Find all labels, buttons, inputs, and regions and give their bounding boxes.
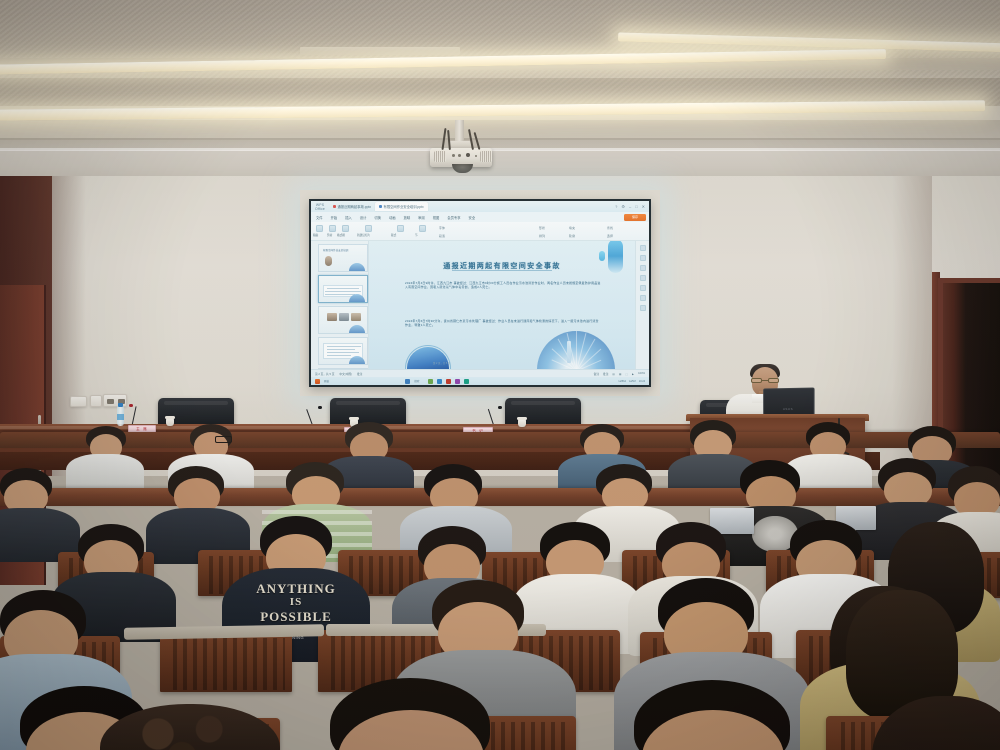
thumb-photo-1	[325, 256, 332, 266]
ppt-file-icon	[333, 205, 336, 208]
tshirt-line-3: POSSIBLE	[222, 610, 370, 624]
power-outlet-panel[interactable]	[103, 394, 127, 407]
tray-network-icon[interactable]: \u25b4	[618, 380, 626, 383]
ribbon-tab-review[interactable]: 审阅	[417, 215, 426, 220]
new-slide-label: 新建幻灯片	[357, 233, 370, 237]
status-language[interactable]: 中文(中国)	[339, 372, 352, 376]
conference-room-photo: WPS Office 通报近期两起事故.pptx 有限空间作业安全培训.pptx…	[0, 0, 1000, 750]
slideshow-play-icon[interactable]: ▶	[632, 372, 634, 376]
slide-page-note: 第 2 页，共 5 页	[433, 361, 450, 365]
document-tab-2[interactable]: 有限空间作业安全培训.pptx	[375, 202, 428, 211]
microphone-3-head	[498, 406, 502, 409]
slide-thumbnail-1-title: 有限空间作业安全培训	[323, 248, 348, 252]
ribbon-tab-member[interactable]: 会员专享	[446, 215, 461, 220]
start-icon[interactable]	[315, 379, 320, 384]
paragraph-toolbar-row[interactable]: 段落	[439, 234, 445, 238]
light-switch-panel-2[interactable]	[90, 395, 102, 407]
status-comment[interactable]: 批注	[357, 372, 362, 376]
right-tool-rail[interactable]	[635, 241, 649, 369]
soffit-edge-highlight	[0, 148, 1000, 151]
tshirt-line-1: ANYTHING	[222, 582, 370, 596]
ceiling-coffer-3	[0, 120, 1000, 140]
tshirt-line-2: IS	[222, 597, 370, 609]
save-button[interactable]: 保存	[624, 214, 646, 221]
thumb-photo-3c	[351, 313, 361, 321]
shape-library-icon[interactable]	[640, 285, 646, 291]
slide-thumbnail-2[interactable]: 2	[318, 275, 368, 303]
outline-toolbar-row[interactable]: 轮廓	[569, 234, 575, 238]
ribbon-tab-security[interactable]: 安全	[468, 215, 477, 220]
ribbon-tab-insert[interactable]: 插入	[344, 215, 353, 220]
audience: ANYTHING IS POSSIBLE LINING	[0, 430, 1000, 750]
audience-chair-r4-2[interactable]	[160, 632, 292, 692]
gear-icon[interactable]: ⚙	[621, 204, 625, 209]
thumb-dome-3	[349, 325, 365, 333]
taskbar-clock: 10:24	[639, 380, 645, 383]
arrange-toolbar-row[interactable]: 排列	[539, 234, 545, 238]
microphone-2-head	[318, 406, 322, 409]
layout-icon[interactable]	[397, 225, 404, 232]
light-fixture-cap	[300, 47, 460, 55]
document-tab-1-label: 通报近期两起事故.pptx	[338, 204, 372, 209]
presenter-glasses	[751, 378, 779, 383]
wps-logo: WPS Office	[311, 203, 329, 211]
status-comments-button[interactable]: 批注	[603, 372, 608, 376]
ppt-file-icon-2	[379, 205, 382, 208]
image-library-icon[interactable]	[640, 255, 646, 261]
minimize-icon[interactable]: ‒	[629, 204, 631, 209]
ribbon-tab-animation[interactable]: 动画	[388, 215, 397, 220]
chart-icon[interactable]	[640, 265, 646, 271]
status-notes-button[interactable]: 备注	[594, 372, 599, 376]
new-slide-icon[interactable]	[365, 225, 372, 232]
wechat-icon[interactable]	[428, 379, 433, 384]
view-sorter-icon[interactable]: ▦	[619, 372, 622, 376]
shape-toolbar-row[interactable]: 形状	[539, 226, 545, 230]
window-controls: ? ⚙ ‒ □ ✕	[615, 204, 649, 209]
search-label[interactable]: 搜索	[414, 379, 419, 383]
design-idea-icon[interactable]	[640, 245, 646, 251]
light-switch-panel[interactable]	[70, 396, 87, 407]
projection-screen: WPS Office 通报近期两起事故.pptx 有限空间作业安全培训.pptx…	[311, 201, 649, 385]
slide-canvas[interactable]: 通报近期两起有限空间安全事故 2024年7月4日9时许，江西九江市 事故经过：江…	[369, 241, 635, 369]
thumb-photo-3b	[339, 313, 349, 321]
layout-label: 版式	[391, 233, 396, 237]
thumb-dome-1	[349, 263, 365, 271]
status-page-indicator: 第 2 页，共 5 页	[315, 372, 334, 376]
maximize-icon[interactable]: □	[635, 204, 637, 209]
tray-volume-icon[interactable]: \u25cf	[629, 380, 636, 383]
ribbon-tab-view[interactable]: 视图	[432, 215, 441, 220]
document-tab-1[interactable]: 通报近期两起事故.pptx	[329, 202, 375, 211]
water-bottle	[117, 406, 124, 426]
find-toolbar-row[interactable]: 查找	[607, 226, 613, 230]
cut-icon[interactable]	[329, 225, 336, 232]
microphone-1-head	[129, 404, 133, 407]
ribbon-tab-strip: 文件 开始 插入 设计 切换 动画 放映 审阅 视图 会员专享 安全	[311, 212, 649, 222]
slide-title-underline	[452, 270, 552, 271]
ribbon-tab-slideshow[interactable]: 放映	[403, 215, 412, 220]
slide-decor-tower	[567, 341, 571, 363]
help-icon[interactable]: ?	[615, 204, 617, 209]
text-box-icon[interactable]	[640, 275, 646, 281]
ribbon-tab-file[interactable]: 文件	[315, 215, 324, 220]
slide-thumbnail-4[interactable]: 4	[318, 337, 368, 365]
ribbon-tab-design[interactable]: 设计	[359, 215, 368, 220]
teacup-3	[518, 419, 526, 427]
view-reading-icon[interactable]: ⬚	[626, 372, 629, 376]
ribbon-tab-transition[interactable]: 切换	[373, 215, 382, 220]
start-label[interactable]: 开始	[324, 379, 329, 383]
more-tools-icon[interactable]	[640, 305, 646, 311]
template-icon[interactable]	[640, 295, 646, 301]
font-toolbar-row[interactable]: 字体	[439, 226, 445, 230]
mail-icon[interactable]	[455, 379, 460, 384]
slide-thumbnail-1[interactable]: 1 有限空间作业安全培训	[318, 244, 368, 272]
paste-label: 粘贴	[313, 233, 318, 237]
cut-label: 剪切	[327, 233, 332, 237]
audience-desk-row-1	[0, 432, 1000, 448]
format-painter-icon[interactable]	[342, 225, 349, 232]
paste-icon[interactable]	[316, 225, 323, 232]
pdf-icon[interactable]	[446, 379, 451, 384]
slide-thumbnail-3[interactable]: 3	[318, 306, 368, 334]
close-icon[interactable]: ✕	[642, 204, 645, 209]
ribbon-tab-home[interactable]: 开始	[330, 215, 339, 220]
section-label: 节	[415, 233, 418, 237]
select-toolbar-row[interactable]: 选择	[607, 234, 613, 238]
ribbon: 粘贴 剪切 格式刷 新建幻灯片 版式 节 字体 段落 形状 排列 填充 轮廓 查…	[311, 222, 649, 241]
zoom-level[interactable]: 100%	[638, 372, 645, 375]
slide-paragraph-2: 2024年7月6日7时30分许，贵州省铜仁市某污水处理厂 事故经过：作业人员在未…	[405, 319, 601, 327]
slide-paragraph-1: 2024年7月4日9时许，江西九江市 事故经过：江西九江市9时30分施工人员在作…	[405, 281, 601, 289]
document-tab-2-label: 有限空间作业安全培训.pptx	[384, 204, 424, 209]
section-icon[interactable]	[419, 225, 426, 232]
fill-toolbar-row[interactable]: 填充	[569, 226, 575, 230]
audience-desk-row-2	[0, 488, 1000, 506]
slide-decor-dome-right	[537, 331, 615, 369]
thumb-photo-3a	[327, 313, 337, 321]
slide-decor-pill-small	[599, 251, 605, 261]
teacup-1	[166, 418, 174, 426]
slide-decor-dome-left-ring	[405, 345, 451, 369]
file-explorer-icon[interactable]	[405, 379, 410, 384]
slide-thumbnail-panel[interactable]: 1 有限空间作业安全培训 2 3 4	[311, 241, 369, 369]
ppt-title-bar: WPS Office 通报近期两起事故.pptx 有限空间作业安全培训.pptx…	[311, 201, 649, 212]
laptop-brand-label: ASUS	[783, 407, 793, 411]
ppt-status-bar: 第 2 页，共 5 页 中文(中国) 批注 备注 批注 ▤ ▦ ⬚ ▶ 100%	[311, 369, 649, 377]
format-painter-label: 格式刷	[337, 233, 345, 237]
browser-icon[interactable]	[437, 379, 442, 384]
view-normal-icon[interactable]: ▤	[612, 372, 615, 376]
windows-taskbar[interactable]: 开始 搜索 \u25b4 \u25cf 10:24	[311, 377, 649, 385]
eyeglasses	[215, 436, 232, 443]
notes-icon[interactable]	[464, 379, 469, 384]
